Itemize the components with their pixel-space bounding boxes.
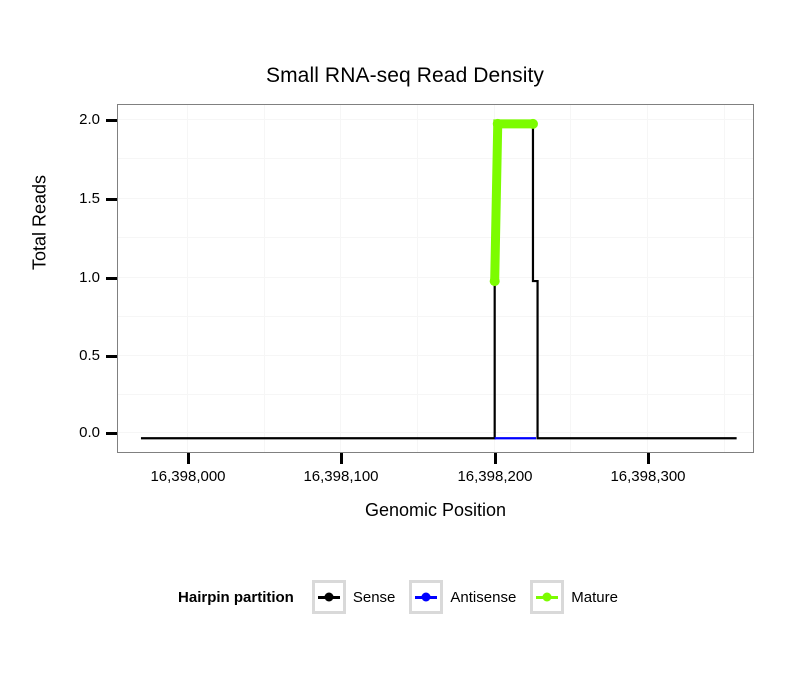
x-tick-mark bbox=[647, 453, 650, 464]
legend-point-glyph bbox=[543, 593, 552, 602]
y-tick-mark bbox=[106, 432, 117, 435]
chart-root: Small RNA-seq Read Density Total Reads G… bbox=[0, 0, 810, 690]
legend-key-mature bbox=[530, 580, 564, 614]
x-tick-label-1: 16,398,100 bbox=[271, 468, 411, 485]
plot-panel bbox=[117, 104, 754, 453]
legend-key-sense bbox=[312, 580, 346, 614]
legend-point-glyph bbox=[324, 593, 333, 602]
legend-item-antisense[interactable]: Antisense bbox=[409, 580, 516, 614]
y-axis-title: Total Reads bbox=[30, 123, 51, 323]
x-axis-title: Genomic Position bbox=[117, 500, 754, 521]
legend-item-sense[interactable]: Sense bbox=[312, 580, 396, 614]
series-point-mature bbox=[490, 276, 500, 286]
legend-label-mature: Mature bbox=[571, 589, 618, 606]
y-tick-label-0: 0.0 bbox=[56, 424, 100, 441]
series-point-mature bbox=[528, 119, 538, 129]
y-tick-mark bbox=[106, 355, 117, 358]
y-tick-label-1: 0.5 bbox=[56, 347, 100, 364]
y-tick-mark bbox=[106, 277, 117, 280]
x-tick-label-3: 16,398,300 bbox=[578, 468, 718, 485]
x-tick-mark bbox=[187, 453, 190, 464]
x-tick-mark bbox=[340, 453, 343, 464]
x-tick-mark bbox=[494, 453, 497, 464]
legend-key-antisense bbox=[409, 580, 443, 614]
panel-inner bbox=[118, 105, 753, 452]
legend-item-mature[interactable]: Mature bbox=[530, 580, 618, 614]
x-tick-label-0: 16,398,000 bbox=[118, 468, 258, 485]
legend: Hairpin partition Sense Antisense Mature bbox=[0, 578, 810, 616]
y-tick-label-4: 2.0 bbox=[56, 111, 100, 128]
legend-label-antisense: Antisense bbox=[450, 589, 516, 606]
series-line-mature bbox=[495, 124, 533, 281]
x-tick-label-2: 16,398,200 bbox=[425, 468, 565, 485]
y-tick-mark bbox=[106, 198, 117, 201]
y-tick-label-3: 1.5 bbox=[56, 190, 100, 207]
legend-point-glyph bbox=[422, 593, 431, 602]
y-tick-mark bbox=[106, 119, 117, 122]
series-point-mature bbox=[493, 119, 503, 129]
series-line-sense bbox=[141, 124, 737, 438]
legend-title: Hairpin partition bbox=[178, 589, 294, 606]
y-tick-label-2: 1.0 bbox=[56, 269, 100, 286]
legend-label-sense: Sense bbox=[353, 589, 396, 606]
data-series-layer bbox=[118, 105, 753, 452]
chart-title: Small RNA-seq Read Density bbox=[0, 64, 810, 88]
